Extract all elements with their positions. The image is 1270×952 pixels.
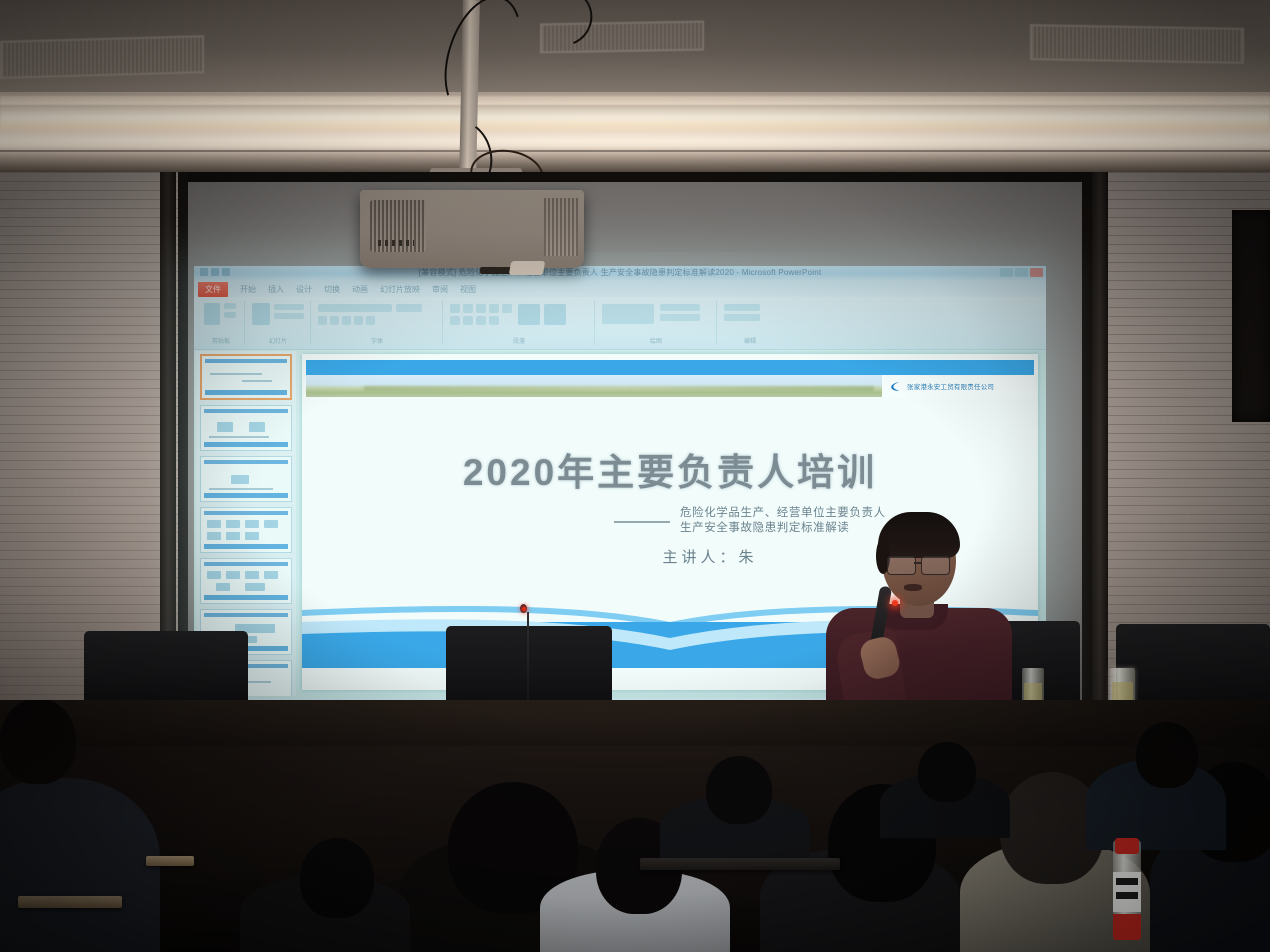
thumb-shape (249, 422, 265, 432)
reset-button[interactable] (274, 313, 304, 319)
audience-area (0, 700, 1270, 952)
align-right-icon[interactable] (476, 316, 486, 325)
thumb-shape (226, 532, 240, 540)
bullets-icon[interactable] (450, 304, 460, 313)
presenter-mouth (904, 584, 922, 591)
window-controls[interactable] (1000, 268, 1043, 277)
text-direction-icon[interactable] (544, 304, 566, 325)
thumb-shape (207, 520, 221, 528)
thumb-shape (217, 422, 233, 432)
justify-icon[interactable] (489, 316, 499, 325)
thumb-shape (245, 532, 259, 540)
thumb-shape (245, 583, 265, 591)
projector-status-led (378, 240, 414, 246)
paste-icon[interactable] (204, 303, 220, 325)
ribbon-group-clipboard[interactable]: 剪贴板 (198, 301, 245, 345)
decrease-indent-icon[interactable] (476, 304, 486, 313)
save-icon[interactable] (200, 268, 208, 276)
shape-fill-button[interactable] (660, 304, 700, 311)
line-spacing-icon[interactable] (502, 304, 512, 313)
wall-mounted-speaker-panel (1232, 210, 1270, 422)
water-bottle-cap (1115, 838, 1139, 854)
tablet-arm-desk (146, 856, 194, 866)
ribbon-group-label: 编辑 (718, 336, 782, 345)
audience-head (300, 838, 374, 918)
thumb-shape (226, 520, 240, 528)
thumb-banner (204, 511, 288, 515)
label-band (1116, 878, 1138, 885)
thumb-text-line (210, 373, 262, 375)
label-band (1116, 892, 1138, 899)
redo-icon[interactable] (222, 268, 230, 276)
gooseneck-microphone-stem (527, 612, 529, 708)
new-slide-icon[interactable] (252, 303, 270, 325)
slide-subtitle-dash (614, 521, 670, 523)
thumb-banner (204, 460, 288, 464)
convert-smartart-icon[interactable] (518, 304, 540, 325)
tab-view[interactable]: 视图 (460, 284, 476, 295)
ceiling (0, 0, 1270, 176)
tab-file[interactable]: 文件 (198, 282, 228, 297)
tablet-arm-desk (18, 896, 122, 908)
cut-icon[interactable] (224, 303, 236, 309)
thumb-shape (264, 571, 278, 579)
thumb-shape (207, 532, 221, 540)
microphone-led-icon (522, 607, 526, 611)
microphone-led-icon (892, 600, 898, 606)
company-logo-text: 张家港永安工贸有限责任公司 (907, 381, 994, 391)
shapes-gallery[interactable] (602, 304, 654, 324)
audience-member (0, 778, 160, 952)
presenter-eyeglasses-left-lens (887, 556, 916, 575)
ribbon-group-paragraph[interactable]: 段落 (444, 301, 595, 345)
thumb-footer (204, 493, 288, 498)
swoosh-logo-icon (889, 380, 902, 393)
thumb-shape (264, 520, 278, 528)
ribbon-group-label: 绘图 (596, 336, 716, 345)
water-bottle-label (1113, 872, 1141, 912)
audience-head (1136, 722, 1198, 788)
align-center-icon[interactable] (463, 316, 473, 325)
projector-lens (509, 261, 545, 275)
presenter-hair (878, 512, 960, 558)
ribbon[interactable]: 剪贴板 幻灯片 字体 (194, 297, 1046, 350)
tab-slideshow[interactable]: 幻灯片放映 (380, 284, 420, 295)
head-table-chair (84, 631, 248, 707)
numbering-icon[interactable] (463, 304, 473, 313)
cove-light-rim (0, 96, 1270, 105)
thumb-shape (207, 571, 221, 579)
wall-trim-strip (1092, 172, 1108, 720)
screen-frame-top (176, 172, 1104, 182)
slide-thumbnail[interactable] (200, 405, 292, 451)
tab-animations[interactable]: 动画 (352, 284, 368, 295)
slide-title: 2020年主要负责人培训 (302, 442, 1038, 496)
maximize-icon[interactable] (1015, 268, 1028, 277)
thumb-banner (204, 562, 288, 566)
shadow-icon[interactable] (354, 316, 363, 325)
thumb-shape (216, 583, 230, 591)
tab-transitions[interactable]: 切换 (324, 284, 340, 295)
thumb-banner (204, 613, 288, 617)
bench-back (640, 858, 840, 870)
projector-exhaust-vent (544, 198, 578, 256)
font-size-select[interactable] (396, 304, 422, 312)
head-table-chair (446, 626, 612, 708)
align-left-icon[interactable] (450, 316, 460, 325)
water-bottle-base-label (1113, 914, 1141, 940)
find-button[interactable] (724, 304, 760, 311)
increase-indent-icon[interactable] (489, 304, 499, 313)
thumb-shape (226, 571, 240, 579)
ribbon-group-label: 段落 (444, 336, 594, 345)
quick-access-toolbar[interactable] (200, 268, 230, 276)
replace-button[interactable] (724, 314, 760, 321)
cove-light-strip (0, 106, 1270, 132)
layout-button[interactable] (274, 304, 304, 310)
ribbon-group-drawing[interactable]: 绘图 (596, 301, 717, 345)
lecture-room-photo: [兼容模式] 危险化学品生产、经营单位主要负责人 生产安全事故隐患判定标准解读2… (0, 0, 1270, 952)
tab-insert[interactable]: 插入 (268, 284, 284, 295)
presenter-eyeglasses-right-lens (921, 556, 950, 575)
head-table-chair (1116, 624, 1270, 708)
ribbon-group-editing[interactable]: 编辑 (718, 301, 782, 345)
close-icon[interactable] (1030, 268, 1043, 277)
audience-head (706, 756, 772, 824)
thumb-text-line (209, 488, 273, 490)
undo-icon[interactable] (211, 268, 219, 276)
thumb-banner (205, 359, 287, 363)
slide-thumbnail[interactable] (200, 354, 292, 400)
thumb-text-line (242, 380, 272, 382)
strikethrough-icon[interactable] (366, 316, 375, 325)
copy-icon[interactable] (224, 312, 236, 318)
italic-icon[interactable] (330, 316, 339, 325)
thumb-shape (245, 520, 259, 528)
presenter (826, 512, 1012, 712)
thumb-footer (204, 595, 288, 600)
ceiling-air-vent-icon (1030, 24, 1244, 64)
audience-head (918, 742, 976, 802)
thumb-footer (204, 544, 288, 549)
shape-outline-button[interactable] (660, 314, 700, 321)
thumb-footer (204, 442, 288, 447)
thumb-footer (205, 390, 287, 395)
ribbon-group-label: 幻灯片 (246, 336, 310, 345)
front-rail (0, 700, 1270, 746)
slide-thumbnail[interactable] (200, 507, 292, 553)
audience-head (0, 700, 76, 784)
ribbon-group-label: 剪贴板 (198, 336, 244, 345)
ribbon-tab-bar[interactable]: 文件 开始 插入 设计 切换 动画 幻灯片放映 审阅 视图 (194, 281, 1046, 297)
ribbon-group-font[interactable]: 字体 (312, 301, 443, 345)
underline-icon[interactable] (342, 316, 351, 325)
slide-top-blue-bar (306, 360, 1034, 375)
thumb-shape (245, 571, 259, 579)
ceiling-projector (360, 190, 584, 268)
thumb-text-line (209, 436, 269, 438)
bold-icon[interactable] (318, 316, 327, 325)
tab-design[interactable]: 设计 (296, 284, 312, 295)
minimize-icon[interactable] (1000, 268, 1013, 277)
font-family-select[interactable] (318, 304, 392, 312)
thumb-banner (204, 409, 288, 413)
ribbon-group-label: 字体 (312, 336, 442, 345)
ceiling-air-vent-icon (0, 35, 204, 79)
company-logo: 张家港永安工贸有限责任公司 (882, 375, 1034, 397)
ribbon-group-slides[interactable]: 幻灯片 (246, 301, 311, 345)
slide-thumbnail[interactable] (200, 558, 292, 604)
tab-home[interactable]: 开始 (240, 284, 256, 295)
presenter-eyeglasses-bridge (914, 562, 921, 564)
thumb-shape (231, 475, 249, 484)
slide-thumbnail[interactable] (200, 456, 292, 502)
powerpoint-title-bar: [兼容模式] 危险化学品生产、经营单位主要负责人 生产安全事故隐患判定标准解读2… (194, 266, 1046, 281)
tab-review[interactable]: 审阅 (432, 284, 448, 295)
